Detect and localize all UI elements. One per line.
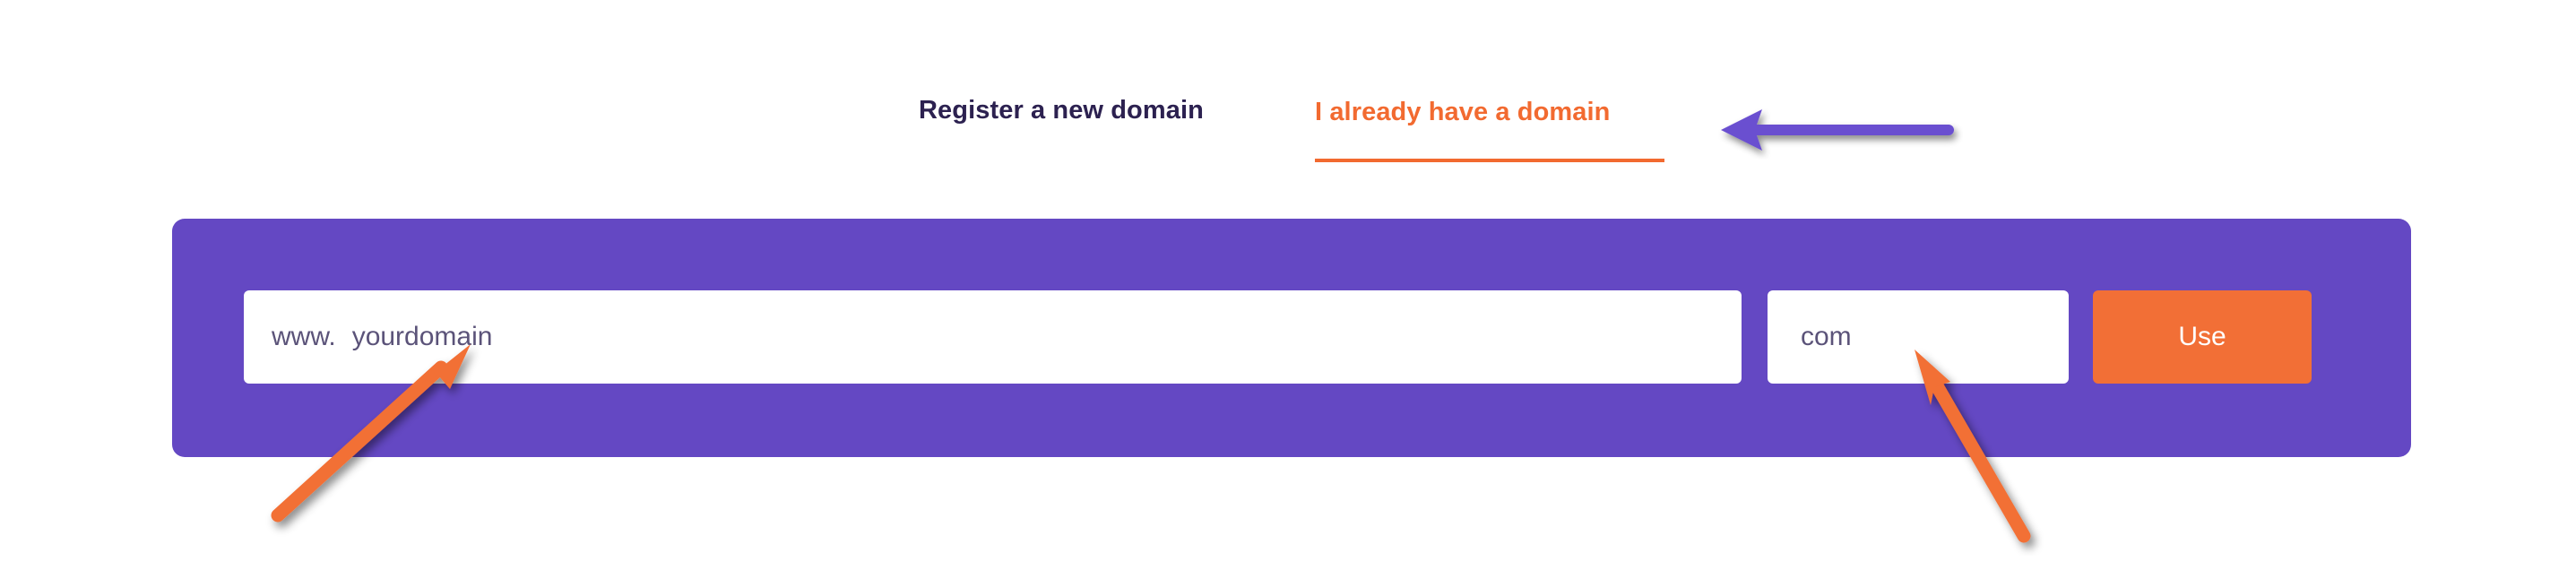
domain-input-placeholder: yourdomain xyxy=(352,321,493,353)
tab-i-already-have-a-domain[interactable]: I already have a domain xyxy=(1315,95,1611,129)
tld-input[interactable]: com xyxy=(1768,290,2069,384)
tld-input-value: com xyxy=(1801,321,1852,353)
domain-tabs: Register a new domain I already have a d… xyxy=(0,93,2576,165)
domain-entry-panel: www. yourdomain com Use xyxy=(172,219,2411,457)
tab-active-underline xyxy=(1315,159,1664,162)
domain-name-input[interactable]: www. yourdomain xyxy=(244,290,1742,384)
use-domain-button[interactable]: Use xyxy=(2093,290,2312,384)
tab-register-new-domain[interactable]: Register a new domain xyxy=(919,93,1204,127)
domain-prefix-label: www. xyxy=(272,321,336,353)
